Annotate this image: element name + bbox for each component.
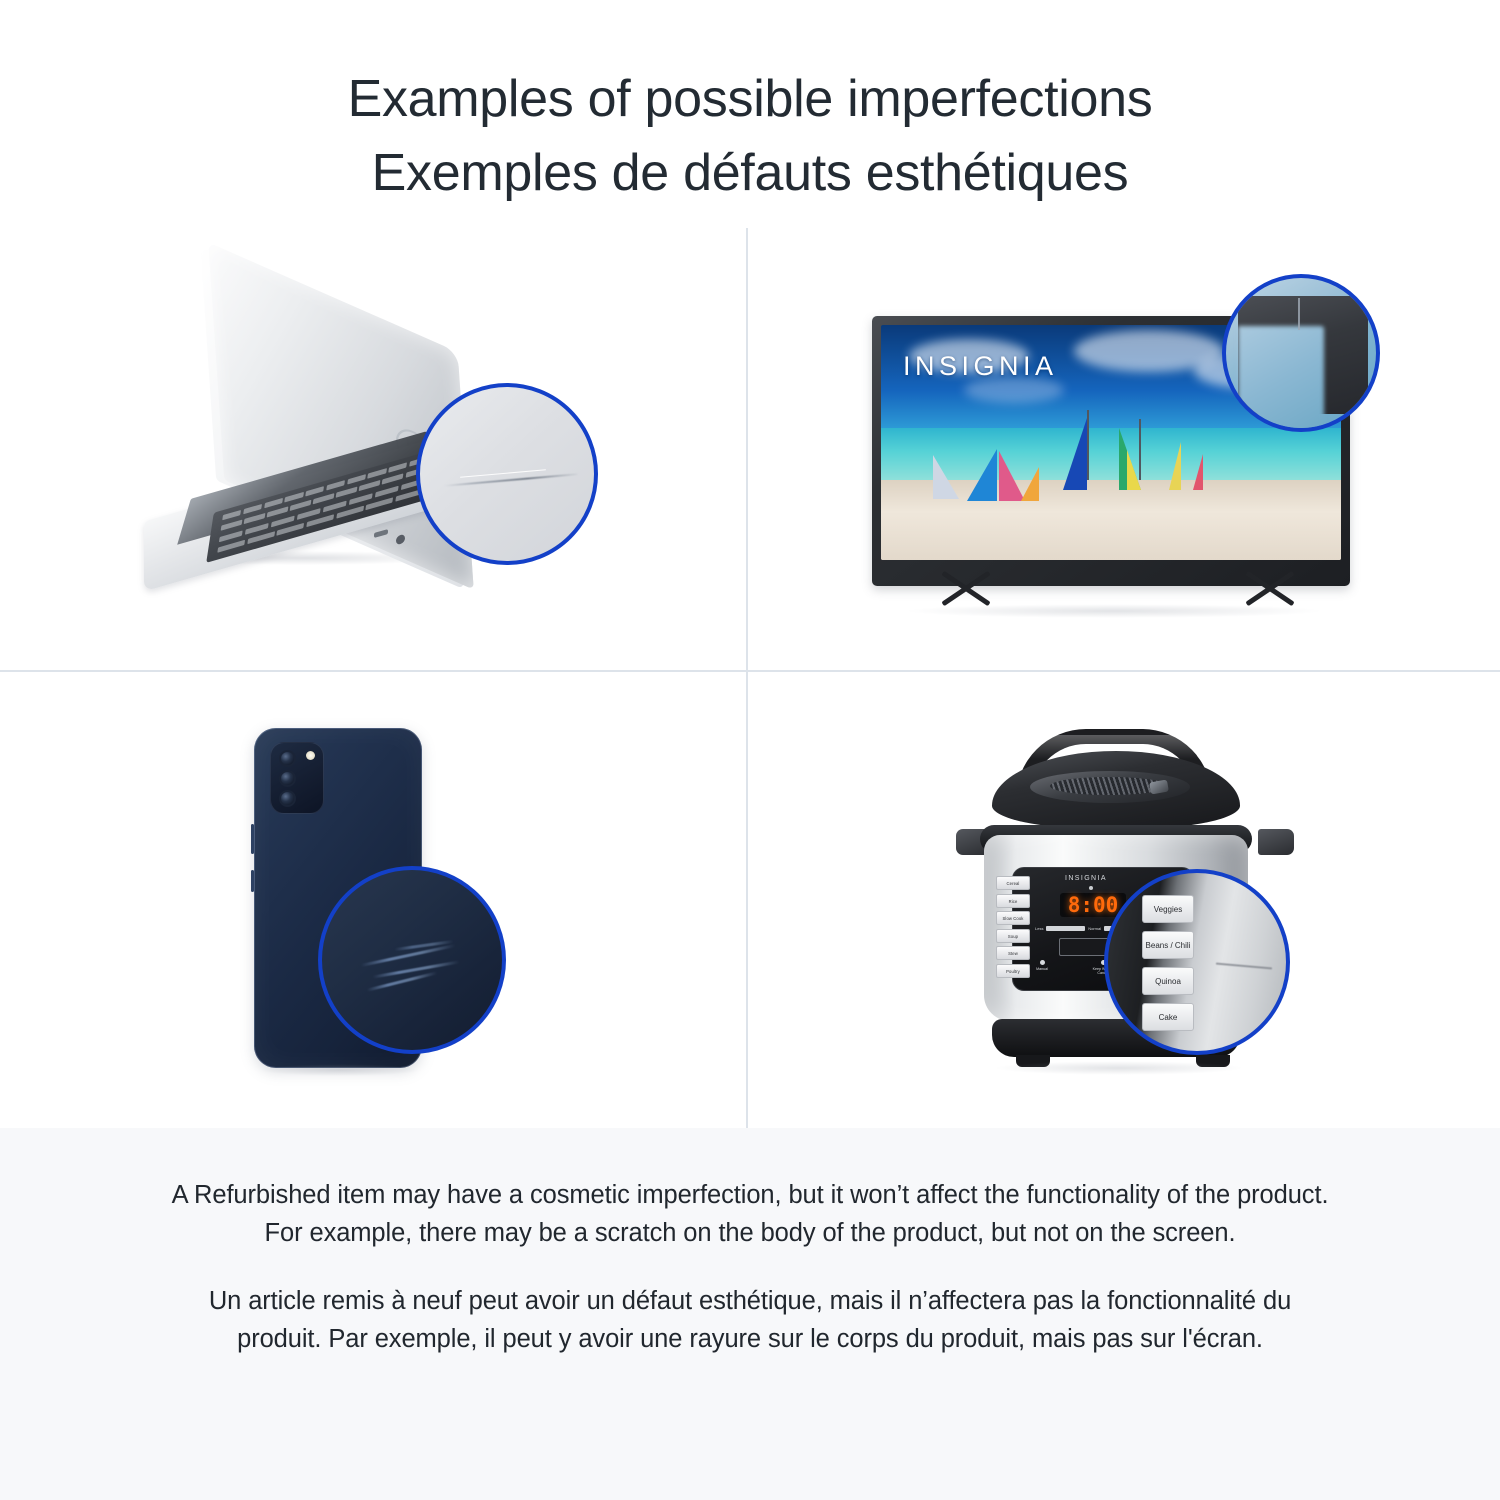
phone-camera-module: [270, 742, 324, 814]
example-cell-laptop: [0, 228, 748, 672]
product-examples-grid: INSIGNIA: [0, 228, 1500, 1128]
cooker-preset-cereal[interactable]: Cereal: [996, 876, 1030, 890]
cooker-preset-rice[interactable]: Rice: [996, 894, 1030, 908]
cooker-scratch-mark: [1216, 963, 1272, 969]
cooker-preset-poultry[interactable]: Poultry: [996, 964, 1030, 978]
title-english: Examples of possible imperfections: [0, 62, 1500, 136]
magnifier-circle-phone: [318, 866, 506, 1054]
disclaimer-english: A Refurbished item may have a cosmetic i…: [168, 1176, 1332, 1252]
page-title: Examples of possible imperfections Exemp…: [0, 0, 1500, 210]
disclaimer-french: Un article remis à neuf peut avoir un dé…: [168, 1282, 1332, 1358]
cooker-zoom-quinoa: Quinoa: [1142, 967, 1194, 995]
magnifier-circle-cooker: Veggies Beans / Chili Quinoa Cake: [1104, 869, 1290, 1055]
cooker-side-handle-right: [1258, 829, 1294, 855]
title-french: Exemples de défauts esthétiques: [0, 136, 1500, 210]
refurbished-imperfections-infographic: Examples of possible imperfections Exemp…: [0, 0, 1500, 1500]
cooker-status-indicator: [1089, 886, 1093, 890]
example-cell-phone: [0, 672, 748, 1128]
tv-shadow: [904, 604, 1324, 618]
phone-illustration: [208, 720, 538, 1080]
cooker-preset-stew[interactable]: Stew: [996, 946, 1030, 960]
disclaimer-panel: A Refurbished item may have a cosmetic i…: [0, 1128, 1500, 1500]
cooker-level-normal: Normal: [1088, 926, 1101, 931]
cooker-illustration: INSIGNIA 8:00 Less Normal More Manual Ke…: [954, 725, 1294, 1075]
camera-lens-3: [279, 790, 296, 807]
camera-lens-1: [279, 750, 296, 767]
cooker-zoomed-buttons: Veggies Beans / Chili Quinoa Cake: [1142, 889, 1194, 1049]
cooker-zoom-cake: Cake: [1142, 1003, 1194, 1031]
cooker-zoom-beans-chili: Beans / Chili: [1142, 931, 1194, 959]
cooker-brand-label: INSIGNIA: [1065, 875, 1107, 882]
magnifier-circle-laptop: [416, 383, 598, 565]
phone-volume-button: [251, 824, 254, 854]
cooker-shadow: [994, 1061, 1244, 1075]
phone-power-button: [251, 870, 254, 892]
camera-lens-2: [279, 770, 296, 787]
tv-illustration: INSIGNIA: [864, 274, 1384, 624]
cooker-preset-column-left: Cereal Rice Slow Cook Soup Stew Poultry: [996, 876, 1030, 978]
cooker-led-display: 8:00: [1060, 893, 1126, 917]
laptop-illustration: [138, 299, 608, 599]
cooker-level-less: Less: [1035, 926, 1043, 931]
magnifier-circle-tv: [1222, 274, 1380, 432]
tv-scratch-mark: [1298, 298, 1300, 330]
laptop-scratch-mark: [444, 473, 578, 487]
example-cell-pressure-cooker: INSIGNIA 8:00 Less Normal More Manual Ke…: [748, 672, 1500, 1128]
cooker-preset-slow-cook[interactable]: Slow Cook: [996, 911, 1030, 925]
cooker-button-manual[interactable]: Manual: [1029, 960, 1055, 982]
cooker-preset-soup[interactable]: Soup: [996, 929, 1030, 943]
tv-brand-logo: INSIGNIA: [903, 351, 1058, 382]
phone-shadow: [260, 1064, 420, 1076]
cooker-zoom-veggies: Veggies: [1142, 895, 1194, 923]
cooker-button-manual-label: Manual: [1029, 967, 1055, 971]
camera-flash-icon: [306, 751, 315, 760]
cooker-mode-window: [1059, 938, 1111, 956]
tv-screen-corner-zoom: [1238, 326, 1324, 432]
example-cell-tv: INSIGNIA: [748, 228, 1500, 672]
